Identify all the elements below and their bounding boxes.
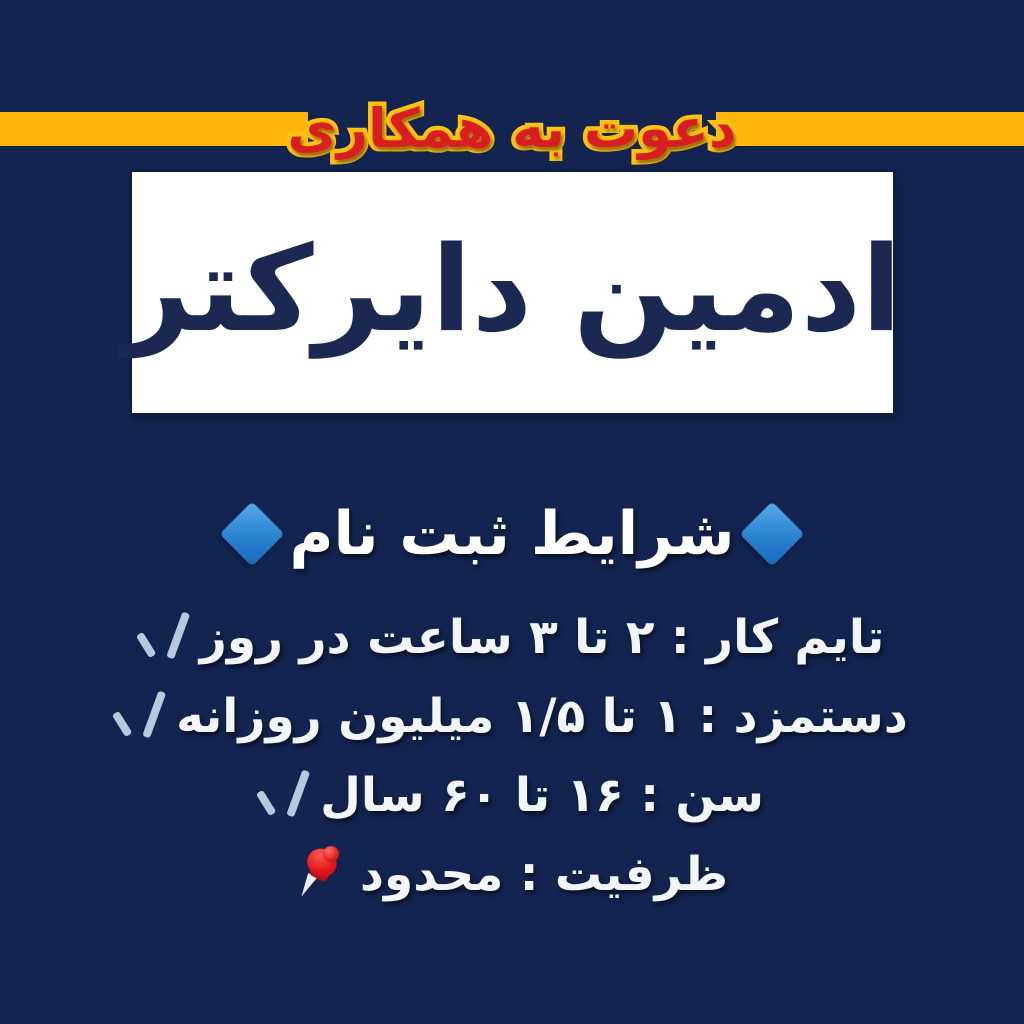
conditions-list: تایم کار : ۲ تا ۳ ساعت در روز دستمزد : ۱… bbox=[0, 610, 1024, 926]
ribbon-title: دعوت به همکاری bbox=[0, 90, 1024, 168]
blue-diamond-icon-right bbox=[739, 501, 804, 566]
list-item-label: تایم کار : ۲ تا ۳ ساعت در روز bbox=[200, 610, 884, 665]
check-mark-icon bbox=[116, 689, 160, 739]
check-mark-icon bbox=[260, 768, 304, 818]
blue-diamond-icon-left bbox=[220, 501, 285, 566]
list-item-label: ظرفیت : محدود bbox=[360, 847, 728, 902]
push-pin-icon bbox=[296, 847, 344, 899]
headline-plaque: ادمین دایرکتر bbox=[132, 172, 893, 413]
top-ribbon: دعوت به همکاری bbox=[0, 112, 1024, 146]
list-item: سن : ۱۶ تا ۶۰ سال bbox=[260, 768, 764, 823]
list-item-label: دستمزد : ۱ تا ۱/۵ میلیون روزانه bbox=[176, 689, 908, 744]
list-item: ظرفیت : محدود bbox=[296, 847, 728, 902]
section-heading-row: شرایط ثبت نام bbox=[0, 492, 1024, 576]
check-mark-icon bbox=[140, 610, 184, 660]
job-title: ادمین دایرکتر bbox=[123, 230, 901, 348]
list-item: دستمزد : ۱ تا ۱/۵ میلیون روزانه bbox=[116, 689, 908, 744]
section-heading-label: شرایط ثبت نام bbox=[289, 499, 734, 569]
list-item: تایم کار : ۲ تا ۳ ساعت در روز bbox=[140, 610, 884, 665]
job-advertisement-poster: دعوت به همکاری ادمین دایرکتر شرایط ثبت ن… bbox=[0, 0, 1024, 1024]
list-item-label: سن : ۱۶ تا ۶۰ سال bbox=[320, 768, 764, 823]
